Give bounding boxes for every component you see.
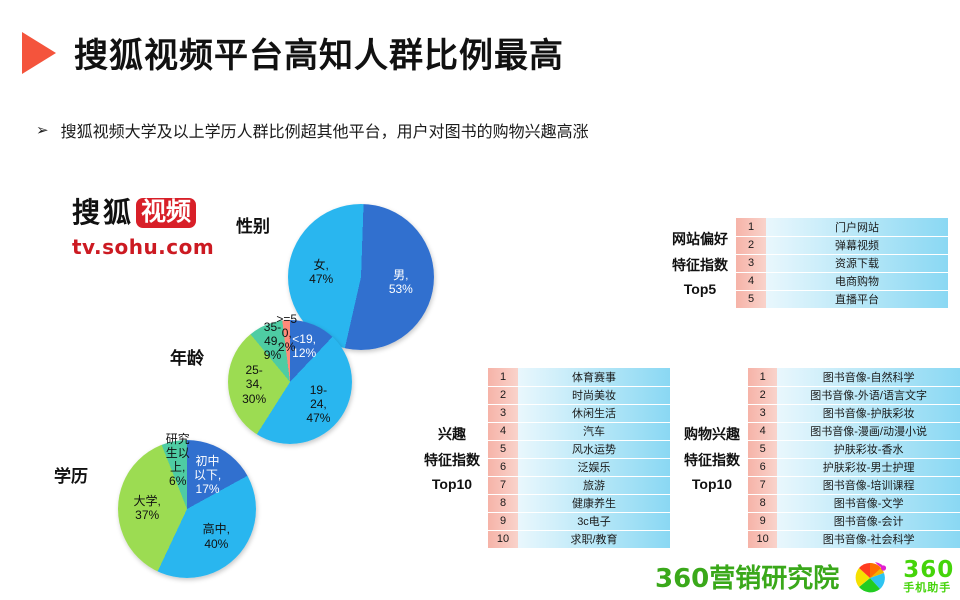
table-row[interactable]: 6泛娱乐 <box>488 458 670 476</box>
table-row[interactable]: 4汽车 <box>488 422 670 440</box>
rank-cell: 1 <box>748 368 777 386</box>
table-site-preference-heading: 网站偏好特征指数Top5 <box>672 229 728 297</box>
rank-cell: 3 <box>736 254 766 272</box>
label-cell: 资源下载 <box>766 254 948 272</box>
table-shopping-interest-heading-line-1: 特征指数 <box>684 450 740 470</box>
label-cell: 护肤彩妆-香水 <box>777 440 960 458</box>
chart-education-slice-label-2: 大学,37% <box>133 494 160 522</box>
table-row[interactable]: 5直播平台 <box>736 290 948 308</box>
table-row[interactable]: 5风水运势 <box>488 440 670 458</box>
table-shopping-interest-heading: 购物兴趣特征指数Top10 <box>684 424 740 492</box>
table-site-preference-heading-line-2: Top5 <box>684 281 716 297</box>
chart-age-title: 年龄 <box>170 344 204 369</box>
table-row[interactable]: 3图书音像-护肤彩妆 <box>748 404 960 422</box>
table-row[interactable]: 10图书音像-社会科学 <box>748 530 960 548</box>
table-row[interactable]: 7旅游 <box>488 476 670 494</box>
table-shopping-interest-heading-line-2: Top10 <box>692 476 732 492</box>
label-cell: 泛娱乐 <box>518 458 670 476</box>
rank-cell: 7 <box>488 476 518 494</box>
table-site-preference: 网站偏好特征指数Top5 1门户网站2弹幕视频3资源下载4电商购物5直播平台 <box>672 218 948 309</box>
rank-cell: 2 <box>488 386 518 404</box>
subtitle: ➢ 搜狐视频大学及以上学历人群比例超其他平台，用户对图书的购物兴趣高涨 <box>36 118 589 142</box>
sohu-video-logo: 搜 狐 视频 tv.sohu.com <box>72 198 232 259</box>
sohu-logo-char-2: 狐 <box>103 199 131 227</box>
label-cell: 电商购物 <box>766 272 948 290</box>
table-shopping-interest-heading-line-0: 购物兴趣 <box>684 424 740 444</box>
triangle-bullet-icon <box>22 32 56 74</box>
rank-cell: 6 <box>748 458 777 476</box>
table-row[interactable]: 1图书音像-自然科学 <box>748 368 960 386</box>
rank-cell: 3 <box>748 404 777 422</box>
label-cell: 图书音像-文学 <box>777 494 960 512</box>
chart-age-slice-label-0: <19,12% <box>292 332 316 360</box>
label-cell: 图书音像-社会科学 <box>777 530 960 548</box>
sohu-logo-url: tv.sohu.com <box>72 235 232 259</box>
table-row[interactable]: 10求职/教育 <box>488 530 670 548</box>
label-cell: 图书音像-自然科学 <box>777 368 960 386</box>
footer-sub-branding: 360 手机助手 <box>903 559 954 594</box>
rank-cell: 5 <box>736 290 766 308</box>
table-row[interactable]: 8图书音像-文学 <box>748 494 960 512</box>
table-interest-heading-line-0: 兴趣 <box>438 424 466 444</box>
table-row[interactable]: 8健康养生 <box>488 494 670 512</box>
label-cell: 体育赛事 <box>518 368 670 386</box>
table-interest-heading-line-1: 特征指数 <box>424 450 480 470</box>
table-site-preference-body: 1门户网站2弹幕视频3资源下载4电商购物5直播平台 <box>736 218 948 309</box>
label-cell: 图书音像-外语/语言文字 <box>777 386 960 404</box>
sohu-logo-wordmark: 搜 狐 视频 <box>72 198 232 228</box>
table-row[interactable]: 1体育赛事 <box>488 368 670 386</box>
table-row[interactable]: 5护肤彩妆-香水 <box>748 440 960 458</box>
table-row[interactable]: 93c电子 <box>488 512 670 530</box>
table-site-preference-heading-line-1: 特征指数 <box>672 255 728 275</box>
footer-sub-360-text: 360 <box>903 559 954 582</box>
table-row[interactable]: 9图书音像-会计 <box>748 512 960 530</box>
chart-age-pie: <19,12%19-24,47%25-34,30%35-49,9%>=50,2% <box>228 320 352 444</box>
slide-canvas: 搜狐视频平台高知人群比例最高 ➢ 搜狐视频大学及以上学历人群比例超其他平台，用户… <box>0 0 960 600</box>
rank-cell: 5 <box>748 440 777 458</box>
table-row[interactable]: 4电商购物 <box>736 272 948 290</box>
chart-age-slice-label-3: 35-49,9% <box>264 320 281 362</box>
rank-cell: 8 <box>748 494 777 512</box>
table-row[interactable]: 2时尚美妆 <box>488 386 670 404</box>
label-cell: 图书音像-漫画/动漫小说 <box>777 422 960 440</box>
rank-cell: 9 <box>748 512 777 530</box>
rank-cell: 4 <box>748 422 777 440</box>
chart-education-title: 学历 <box>54 462 88 487</box>
rank-cell: 3 <box>488 404 518 422</box>
arrow-bullet-icon: ➢ <box>36 123 49 138</box>
table-interest-heading-line-2: Top10 <box>432 476 472 492</box>
label-cell: 时尚美妆 <box>518 386 670 404</box>
chart-education-pie: 初中以下,17%高中,40%大学,37%研究生以上,6% <box>118 440 256 578</box>
label-cell: 健康养生 <box>518 494 670 512</box>
footer-branding: 360营销研究院 360 手机助手 <box>655 558 954 595</box>
label-cell: 护肤彩妆-男士护理 <box>777 458 960 476</box>
chart-education-slice-label-1: 高中,40% <box>203 522 230 550</box>
table-row[interactable]: 2图书音像-外语/语言文字 <box>748 386 960 404</box>
sohu-logo-badge: 视频 <box>136 198 196 228</box>
label-cell: 旅游 <box>518 476 670 494</box>
rank-cell: 2 <box>748 386 777 404</box>
rank-cell: 1 <box>736 218 766 236</box>
360-logo-icon <box>853 559 889 595</box>
table-row[interactable]: 7图书音像-培训课程 <box>748 476 960 494</box>
label-cell: 图书音像-会计 <box>777 512 960 530</box>
chart-age-slice-label-1: 19-24,47% <box>306 383 330 425</box>
rank-cell: 8 <box>488 494 518 512</box>
table-site-preference-heading-line-0: 网站偏好 <box>672 229 728 249</box>
label-cell: 风水运势 <box>518 440 670 458</box>
footer-brand-text: 360营销研究院 <box>655 558 839 595</box>
rank-cell: 4 <box>736 272 766 290</box>
chart-age-slice-label-2: 25-34,30% <box>242 363 266 405</box>
rank-cell: 6 <box>488 458 518 476</box>
rank-cell: 1 <box>488 368 518 386</box>
table-row[interactable]: 6护肤彩妆-男士护理 <box>748 458 960 476</box>
table-interest-heading: 兴趣特征指数Top10 <box>424 424 480 492</box>
chart-gender-slice-label-1: 女,47% <box>309 258 333 286</box>
table-row[interactable]: 4图书音像-漫画/动漫小说 <box>748 422 960 440</box>
page-title-text: 搜狐视频平台高知人群比例最高 <box>74 28 564 77</box>
rank-cell: 10 <box>748 530 777 548</box>
label-cell: 休闲生活 <box>518 404 670 422</box>
label-cell: 图书音像-培训课程 <box>777 476 960 494</box>
rank-cell: 4 <box>488 422 518 440</box>
sohu-logo-char-1: 搜 <box>72 199 100 227</box>
table-row[interactable]: 1门户网站 <box>736 218 948 236</box>
table-shopping-interest-body: 1图书音像-自然科学2图书音像-外语/语言文字3图书音像-护肤彩妆4图书音像-漫… <box>748 368 960 549</box>
table-interest-body: 1体育赛事2时尚美妆3休闲生活4汽车5风水运势6泛娱乐7旅游8健康养生93c电子… <box>488 368 670 549</box>
rank-cell: 10 <box>488 530 518 548</box>
chart-gender-slice-label-0: 男,53% <box>389 268 413 296</box>
table-shopping-interest: 购物兴趣特征指数Top10 1图书音像-自然科学2图书音像-外语/语言文字3图书… <box>684 368 960 549</box>
chart-education-slice-label-3: 研究生以上,6% <box>166 432 190 489</box>
chart-education-slice-label-0: 初中以下,17% <box>194 454 221 496</box>
table-row[interactable]: 2弹幕视频 <box>736 236 948 254</box>
chart-gender-title: 性别 <box>236 212 270 237</box>
page-title: 搜狐视频平台高知人群比例最高 <box>22 28 564 77</box>
rank-cell: 2 <box>736 236 766 254</box>
label-cell: 弹幕视频 <box>766 236 948 254</box>
label-cell: 图书音像-护肤彩妆 <box>777 404 960 422</box>
label-cell: 直播平台 <box>766 290 948 308</box>
subtitle-text: 搜狐视频大学及以上学历人群比例超其他平台，用户对图书的购物兴趣高涨 <box>61 118 589 142</box>
label-cell: 汽车 <box>518 422 670 440</box>
rank-cell: 5 <box>488 440 518 458</box>
chart-age: 年龄 <19,12%19-24,47%25-34,30%35-49,9%>=50… <box>228 320 352 444</box>
label-cell: 3c电子 <box>518 512 670 530</box>
chart-education: 学历 初中以下,17%高中,40%大学,37%研究生以上,6% <box>118 440 256 578</box>
label-cell: 求职/教育 <box>518 530 670 548</box>
table-row[interactable]: 3资源下载 <box>736 254 948 272</box>
footer-sub-label: 手机助手 <box>903 583 954 594</box>
label-cell: 门户网站 <box>766 218 948 236</box>
rank-cell: 9 <box>488 512 518 530</box>
table-row[interactable]: 3休闲生活 <box>488 404 670 422</box>
rank-cell: 7 <box>748 476 777 494</box>
table-interest: 兴趣特征指数Top10 1体育赛事2时尚美妆3休闲生活4汽车5风水运势6泛娱乐7… <box>424 368 670 549</box>
